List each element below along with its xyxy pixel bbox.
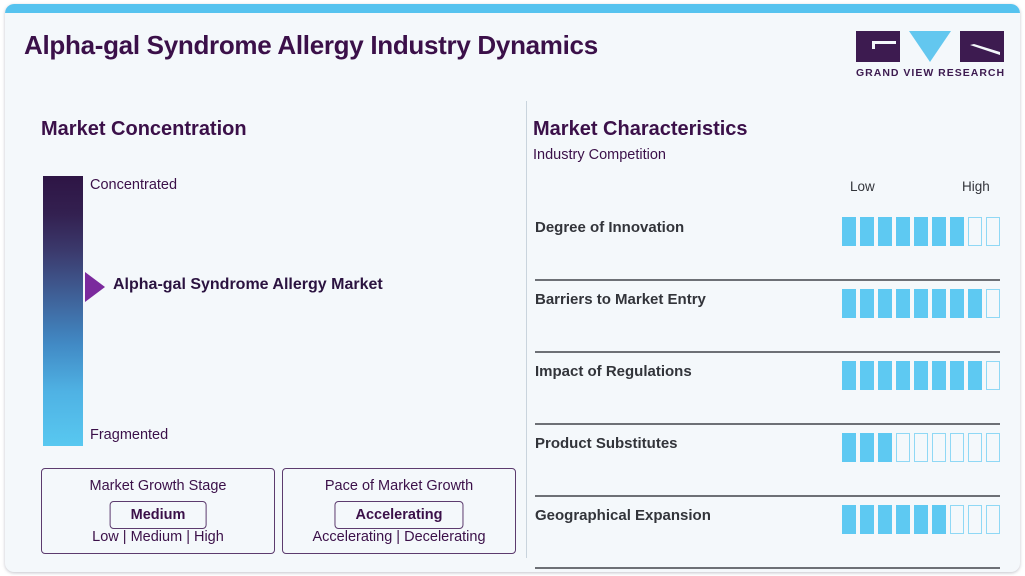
rating-tick-empty <box>914 433 928 462</box>
rating-tick-filled <box>932 217 946 246</box>
characteristic-rating-bars <box>842 361 1000 390</box>
characteristic-row: Product Substitutes <box>533 425 1000 497</box>
characteristic-row: Barriers to Market Entry <box>533 281 1000 353</box>
characteristic-label: Barriers to Market Entry <box>535 291 706 308</box>
rating-tick-empty <box>950 433 964 462</box>
market-growth-stage-value: Medium <box>110 501 207 529</box>
rating-tick-filled <box>878 217 892 246</box>
rating-tick-empty <box>968 505 982 534</box>
rating-tick-filled <box>878 505 892 534</box>
characteristic-label: Impact of Regulations <box>535 363 692 380</box>
logo-marks <box>856 31 1004 64</box>
characteristic-rating-bars <box>842 433 1000 462</box>
characteristic-label: Degree of Innovation <box>535 219 684 236</box>
concentration-marker-label: Alpha-gal Syndrome Allergy Market <box>113 276 383 294</box>
rating-tick-filled <box>842 361 856 390</box>
rating-tick-filled <box>860 217 874 246</box>
concentration-marker-arrow-icon <box>85 272 105 302</box>
rating-tick-filled <box>968 289 982 318</box>
concentration-gradient-bar <box>43 176 83 446</box>
rating-tick-filled <box>860 433 874 462</box>
rating-tick-filled <box>896 505 910 534</box>
rating-tick-filled <box>950 361 964 390</box>
characteristic-rating-bars <box>842 289 1000 318</box>
rating-tick-empty <box>968 217 982 246</box>
rating-tick-filled <box>842 505 856 534</box>
pace-of-market-growth-box: Pace of Market Growth Accelerating Accel… <box>282 468 516 554</box>
rating-tick-filled <box>932 505 946 534</box>
rating-tick-empty <box>896 433 910 462</box>
characteristic-rating-bars <box>842 217 1000 246</box>
characteristic-rating-bars <box>842 505 1000 534</box>
infographic-card: Alpha-gal Syndrome Allergy Industry Dyna… <box>5 4 1020 572</box>
logo-g-mark-icon <box>856 31 900 62</box>
rating-tick-filled <box>878 361 892 390</box>
top-accent-bar <box>5 4 1020 13</box>
concentration-bottom-label: Fragmented <box>90 427 168 443</box>
rating-tick-filled <box>878 433 892 462</box>
rating-tick-filled <box>896 217 910 246</box>
rating-tick-filled <box>842 433 856 462</box>
rating-tick-empty <box>986 217 1000 246</box>
panel-divider <box>526 101 527 558</box>
row-divider <box>535 567 1000 569</box>
characteristic-row: Geographical Expansion <box>533 497 1000 569</box>
rating-tick-filled <box>914 361 928 390</box>
rating-tick-filled <box>860 289 874 318</box>
rating-tick-empty <box>932 433 946 462</box>
rating-tick-empty <box>950 505 964 534</box>
pace-of-market-growth-title: Pace of Market Growth <box>283 478 515 494</box>
characteristic-row: Impact of Regulations <box>533 353 1000 425</box>
rating-tick-filled <box>932 289 946 318</box>
rating-tick-filled <box>950 217 964 246</box>
logo-wordmark: GRAND VIEW RESEARCH <box>856 67 1004 79</box>
rating-tick-filled <box>896 361 910 390</box>
rating-tick-empty <box>986 433 1000 462</box>
rating-tick-filled <box>914 217 928 246</box>
rating-tick-filled <box>860 505 874 534</box>
pace-of-market-growth-scale: Accelerating | Decelerating <box>283 529 515 545</box>
market-concentration-heading: Market Concentration <box>41 118 247 141</box>
rating-tick-empty <box>986 361 1000 390</box>
market-characteristics-heading: Market Characteristics <box>533 118 748 141</box>
rating-tick-filled <box>860 361 874 390</box>
rating-tick-filled <box>932 361 946 390</box>
market-growth-stage-box: Market Growth Stage Medium Low | Medium … <box>41 468 275 554</box>
rating-tick-filled <box>950 289 964 318</box>
rating-tick-filled <box>842 289 856 318</box>
rating-tick-filled <box>896 289 910 318</box>
logo-r-slash-icon <box>960 31 1004 62</box>
logo-g-bar-cut <box>872 41 896 44</box>
rating-tick-filled <box>914 289 928 318</box>
rating-tick-empty <box>986 289 1000 318</box>
market-growth-stage-scale: Low | Medium | High <box>42 529 274 545</box>
grand-view-research-logo: GRAND VIEW RESEARCH <box>856 31 1004 81</box>
pace-of-market-growth-value: Accelerating <box>334 501 463 529</box>
market-characteristics-subheading: Industry Competition <box>533 147 666 163</box>
characteristics-rows: Degree of InnovationBarriers to Market E… <box>533 209 1000 569</box>
rating-tick-filled <box>878 289 892 318</box>
logo-v-triangle-icon <box>909 31 951 62</box>
rating-tick-filled <box>842 217 856 246</box>
characteristic-label: Geographical Expansion <box>535 507 711 524</box>
logo-r-mark-icon <box>960 31 1004 62</box>
market-growth-stage-title: Market Growth Stage <box>42 478 274 494</box>
rating-tick-filled <box>968 361 982 390</box>
rating-tick-filled <box>914 505 928 534</box>
concentration-top-label: Concentrated <box>90 177 177 193</box>
page-title: Alpha-gal Syndrome Allergy Industry Dyna… <box>24 30 598 61</box>
rating-tick-empty <box>968 433 982 462</box>
scale-low-label: Low <box>850 179 875 194</box>
rating-tick-empty <box>986 505 1000 534</box>
characteristic-label: Product Substitutes <box>535 435 678 452</box>
characteristic-row: Degree of Innovation <box>533 209 1000 281</box>
logo-g-stem-cut <box>872 41 875 49</box>
scale-high-label: High <box>962 179 990 194</box>
